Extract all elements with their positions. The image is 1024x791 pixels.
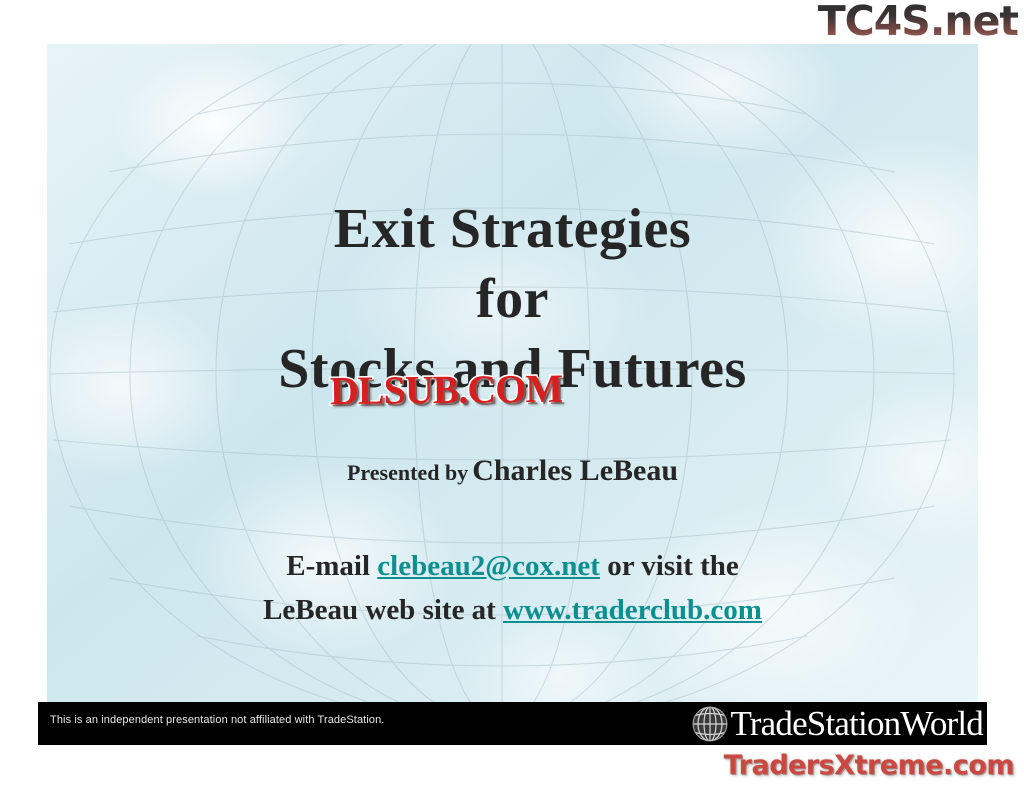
footer-disclaimer-text: This is an independent presentation not …	[50, 714, 384, 726]
website-link[interactable]: www.traderclub.com	[503, 594, 762, 626]
title-line-2: for	[47, 264, 978, 334]
tradersxtreme-com-watermark: TradersXtreme.com	[724, 750, 1014, 781]
presented-by-label: Presented by	[347, 460, 468, 485]
email-label: E-mail	[286, 550, 370, 582]
contact-website-line: LeBeau web site at www.traderclub.com	[47, 588, 978, 632]
contact-info: E-mail clebeau2@cox.net or visit the LeB…	[47, 544, 978, 632]
email-line-suffix: or visit the	[607, 550, 739, 582]
footer-bar: This is an independent presentation not …	[38, 702, 987, 745]
dlsub-com-watermark: DLSUB.COM	[330, 365, 563, 414]
tc4s-net-watermark: TC4S.net	[818, 0, 1018, 44]
contact-email-line: E-mail clebeau2@cox.net or visit the	[47, 544, 978, 588]
website-label: LeBeau web site at	[263, 594, 496, 626]
title-line-1: Exit Strategies	[47, 194, 978, 264]
logo-text-value: TradeStationWorld	[730, 704, 983, 743]
tradestation-world-logo: TradeStationWorld	[688, 703, 983, 744]
presenter-name: Charles LeBeau	[472, 454, 678, 487]
presenter-credit: Presented by Charles LeBeau	[47, 454, 978, 488]
email-link[interactable]: clebeau2@cox.net	[377, 550, 600, 582]
tradestation-world-logo-text: TradeStationWorld	[730, 704, 983, 744]
globe-icon	[688, 704, 732, 744]
